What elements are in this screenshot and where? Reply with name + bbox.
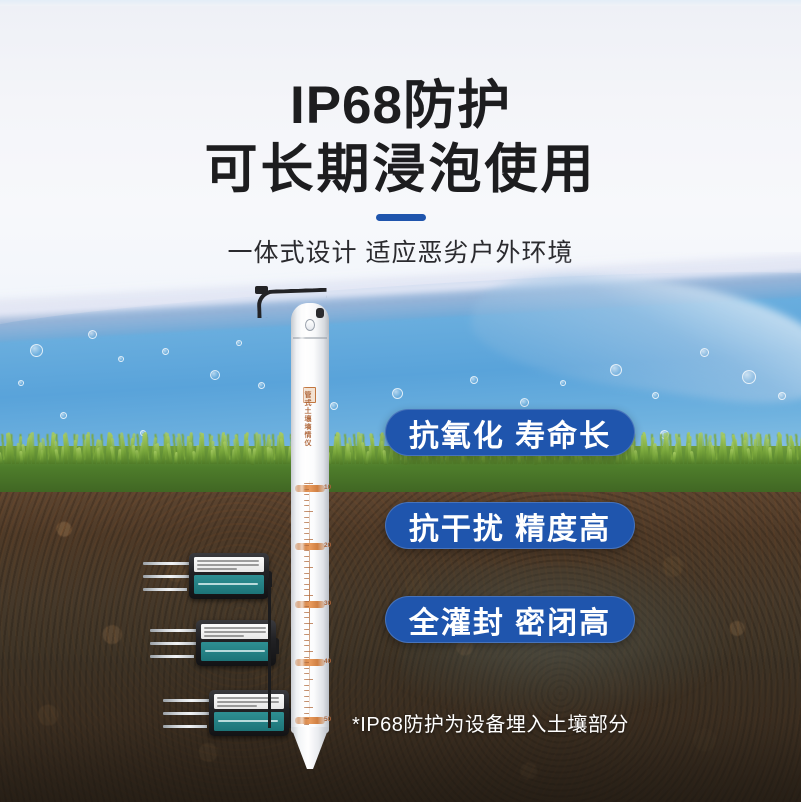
- water-bubble: [162, 348, 169, 355]
- sensor-housing: [209, 690, 289, 736]
- probe-scale-tick: [304, 483, 313, 484]
- probe-depth-number: 10: [324, 484, 331, 491]
- water-bubble: [520, 398, 529, 407]
- tube-soil-moisture-probe: 管式土壤墒情仪 1020304050: [291, 303, 329, 766]
- probe-scale-tick: [304, 567, 313, 568]
- sensor-label-line: [197, 560, 259, 562]
- sensor-label-line: [204, 627, 266, 629]
- sensor-housing: [196, 620, 276, 666]
- probe-highlight: [299, 305, 305, 730]
- sensor-label-line: [204, 635, 244, 637]
- water-bubble: [210, 370, 220, 380]
- sensor-label-line: [217, 705, 257, 707]
- probe-scale-tick: [304, 707, 313, 708]
- sensor-brand-label: [201, 642, 271, 661]
- water-bubble: [60, 412, 67, 419]
- soil-moisture-sensor: [150, 620, 276, 666]
- probe-scale-tick: [304, 539, 313, 540]
- sensor-spec-label: [194, 557, 264, 572]
- footnote-text: *IP68防护为设备埋入土壤部分: [352, 708, 629, 737]
- grass-blade: [212, 446, 217, 465]
- probe-depth-number: 30: [324, 600, 331, 607]
- page-title-line2: 可长期浸泡使用: [0, 142, 801, 198]
- product-poster: IP68防护 可长期浸泡使用 一体式设计 适应恶劣户外环境 管式土壤墒情仪: [0, 0, 801, 802]
- sensor-prong: [143, 562, 191, 565]
- grass-blade: [269, 448, 274, 464]
- probe-scale-tick: [304, 623, 313, 624]
- soil-moisture-sensor: [143, 553, 269, 599]
- probe-cable-end: [255, 286, 268, 294]
- water-bubble: [30, 344, 43, 357]
- grass-blade: [383, 449, 387, 464]
- sensor-bus-cable: [268, 578, 271, 728]
- water-bubble: [742, 370, 756, 384]
- sensor-brand-label: [194, 575, 264, 594]
- water-bubble: [610, 364, 622, 376]
- sensor-label-line: [197, 564, 259, 566]
- grass-blade: [0, 452, 3, 464]
- sensor-label-line: [204, 631, 266, 633]
- probe-tip: [291, 727, 329, 769]
- water-bubble: [470, 376, 478, 384]
- feature-badge-1-label: 抗氧化 寿命长: [409, 411, 611, 455]
- sensor-prong: [163, 699, 211, 702]
- sensor-prong: [150, 655, 194, 658]
- probe-depth-number: 20: [324, 542, 331, 549]
- probe-scale-tick: [304, 595, 313, 596]
- water-bubble: [118, 356, 124, 362]
- sensor-prong: [163, 725, 207, 728]
- water-bubble: [330, 402, 338, 410]
- water-bubble: [392, 388, 403, 399]
- water-bubble: [778, 392, 786, 400]
- probe-depth-number: 50: [324, 716, 331, 723]
- sensor-prong: [150, 629, 198, 632]
- water-bubble: [88, 330, 97, 339]
- feature-badge-3[interactable]: 全灌封 密闭高: [385, 596, 635, 643]
- feature-badge-3-label: 全灌封 密闭高: [409, 598, 611, 642]
- title-divider: [376, 214, 426, 221]
- sensor-prong: [143, 588, 187, 591]
- sensor-spec-label: [214, 694, 284, 709]
- water-bubble: [560, 380, 566, 386]
- water-bubble: [236, 340, 242, 346]
- feature-badge-1[interactable]: 抗氧化 寿命长: [385, 409, 635, 456]
- sensor-prong: [143, 575, 189, 578]
- grass-blade: [690, 451, 695, 464]
- header-text-block: IP68防护 可长期浸泡使用 一体式设计 适应恶劣户外环境: [0, 0, 801, 269]
- sensor-cable: [276, 638, 279, 654]
- probe-depth-number: 40: [324, 658, 331, 665]
- sensor-brand-line: [198, 583, 258, 585]
- page-title-line1: IP68防护: [0, 78, 801, 134]
- probe-scale-tick: [304, 679, 313, 680]
- water-bubble: [18, 380, 24, 386]
- probe-scale-tick: [304, 651, 313, 652]
- water-bubble: [652, 392, 659, 399]
- water-bubble: [700, 348, 709, 357]
- sensor-prong: [150, 642, 196, 645]
- sensor-brand-line: [205, 650, 265, 652]
- sensor-spec-label: [201, 624, 271, 639]
- sensor-brand-label: [214, 712, 284, 731]
- water-bubble: [258, 382, 265, 389]
- probe-indicator-icon: [305, 319, 315, 331]
- sensor-housing: [189, 553, 269, 599]
- sensor-label-line: [197, 568, 237, 570]
- probe-scale-tick: [304, 511, 313, 512]
- probe-cable-port: [316, 308, 324, 318]
- feature-badge-2-label: 抗干扰 精度高: [409, 504, 611, 548]
- sensor-prong: [163, 712, 209, 715]
- feature-badge-2[interactable]: 抗干扰 精度高: [385, 502, 635, 549]
